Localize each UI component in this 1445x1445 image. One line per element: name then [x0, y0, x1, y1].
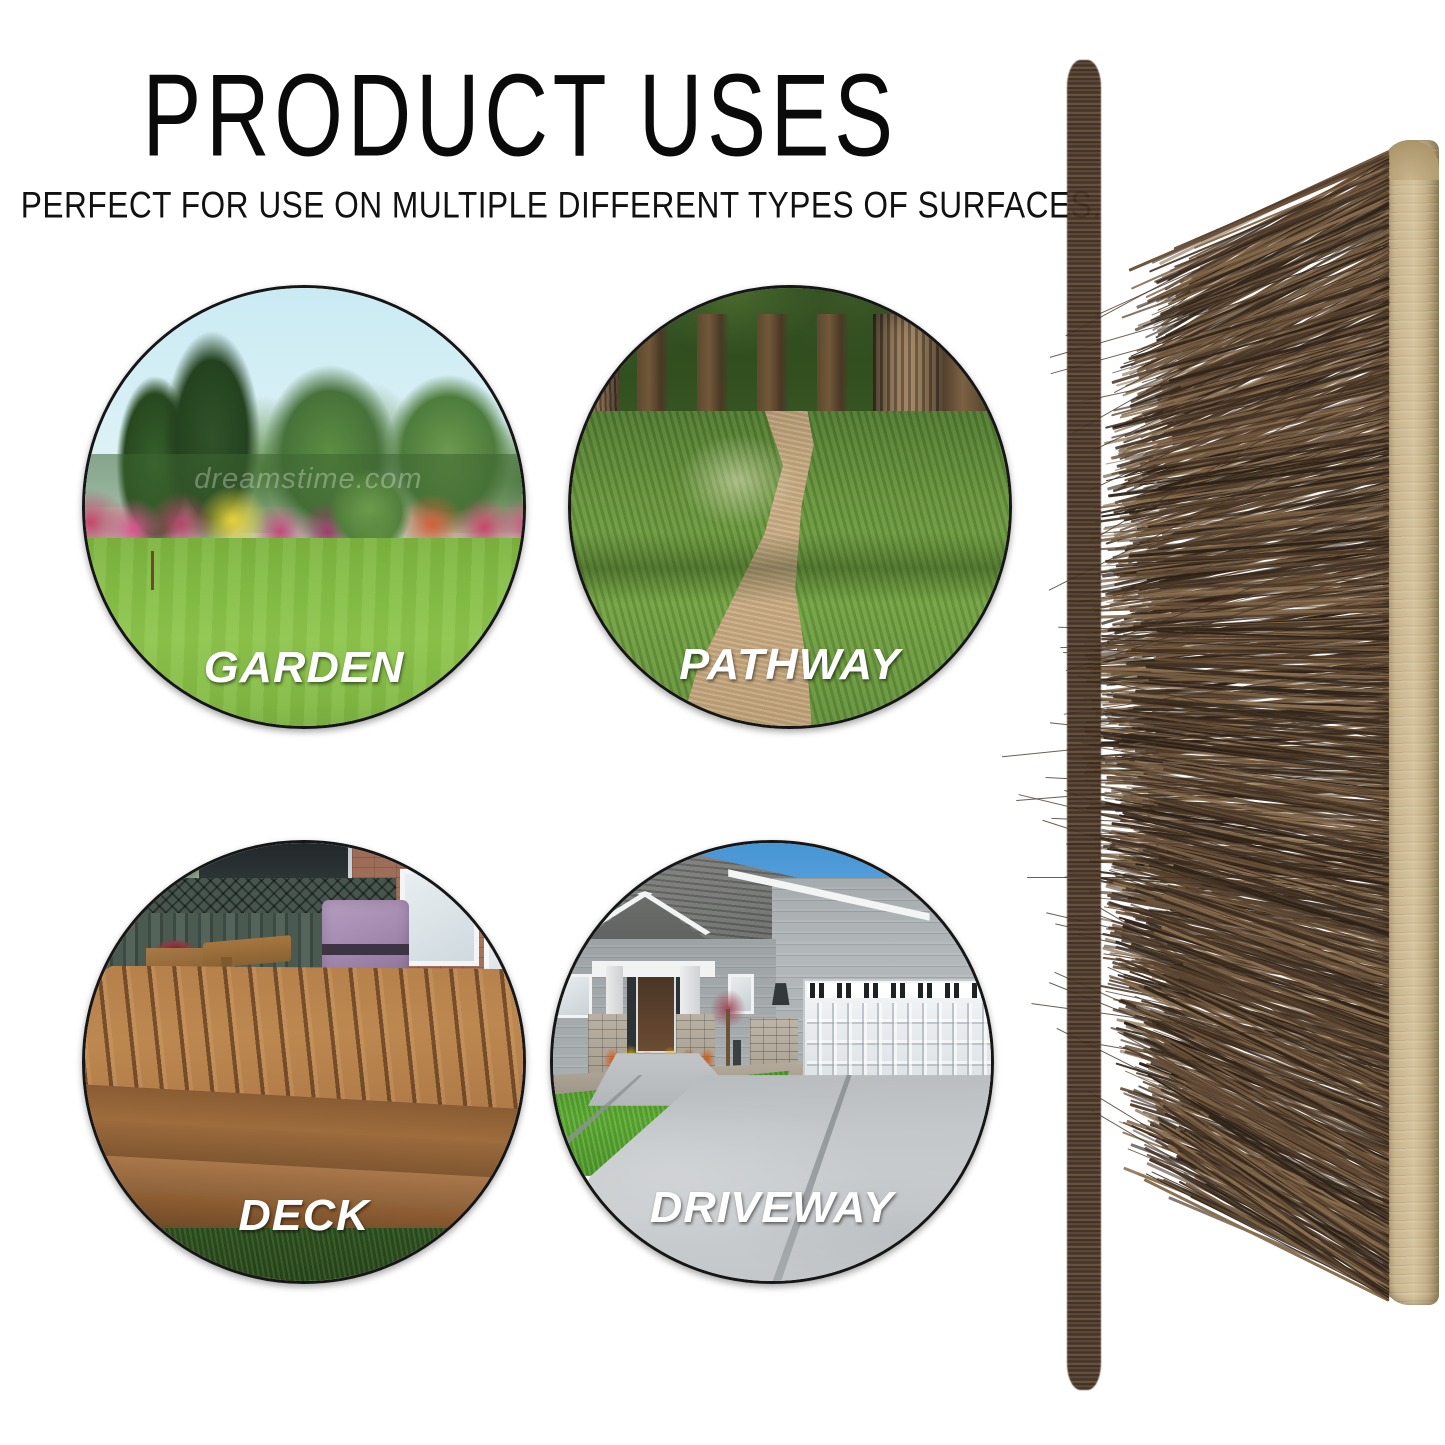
header-block: PRODUCT USES PERFECT FOR USE ON MULTIPLE…	[0, 58, 1040, 222]
sapling-trunk	[151, 551, 154, 590]
sunlight-patch	[659, 419, 817, 542]
circle-caption-deck: DECK	[82, 1191, 526, 1241]
shadow-band	[571, 533, 1009, 603]
use-case-circle-driveway: DRIVEWAY	[550, 840, 994, 1284]
use-case-circle-garden: dreamstime.com GARDEN	[82, 285, 526, 729]
page-subtitle: PERFECT FOR USE ON MULTIPLE DIFFERENT TY…	[21, 184, 1019, 227]
circle-caption-garden: GARDEN	[82, 643, 526, 693]
circle-caption-pathway: PATHWAY	[568, 640, 1012, 690]
use-case-circle-deck: DECK	[82, 840, 526, 1284]
house-window	[400, 869, 479, 965]
bristle-tip-edge	[1067, 60, 1101, 1390]
garage-door-window-row	[807, 983, 991, 998]
front-window-left	[553, 974, 592, 1018]
grill-cover	[322, 900, 410, 979]
grill-cover-strap	[322, 944, 410, 955]
garage-door-panels	[807, 1003, 991, 1082]
use-case-circle-pathway: PATHWAY	[568, 285, 1012, 729]
product-broom-head	[1045, 0, 1445, 1445]
stock-watermark: dreamstime.com	[155, 463, 462, 533]
page-title: PRODUCT USES	[42, 58, 999, 175]
circle-caption-driveway: DRIVEWAY	[550, 1183, 994, 1233]
bristle-field	[1045, 0, 1445, 1445]
